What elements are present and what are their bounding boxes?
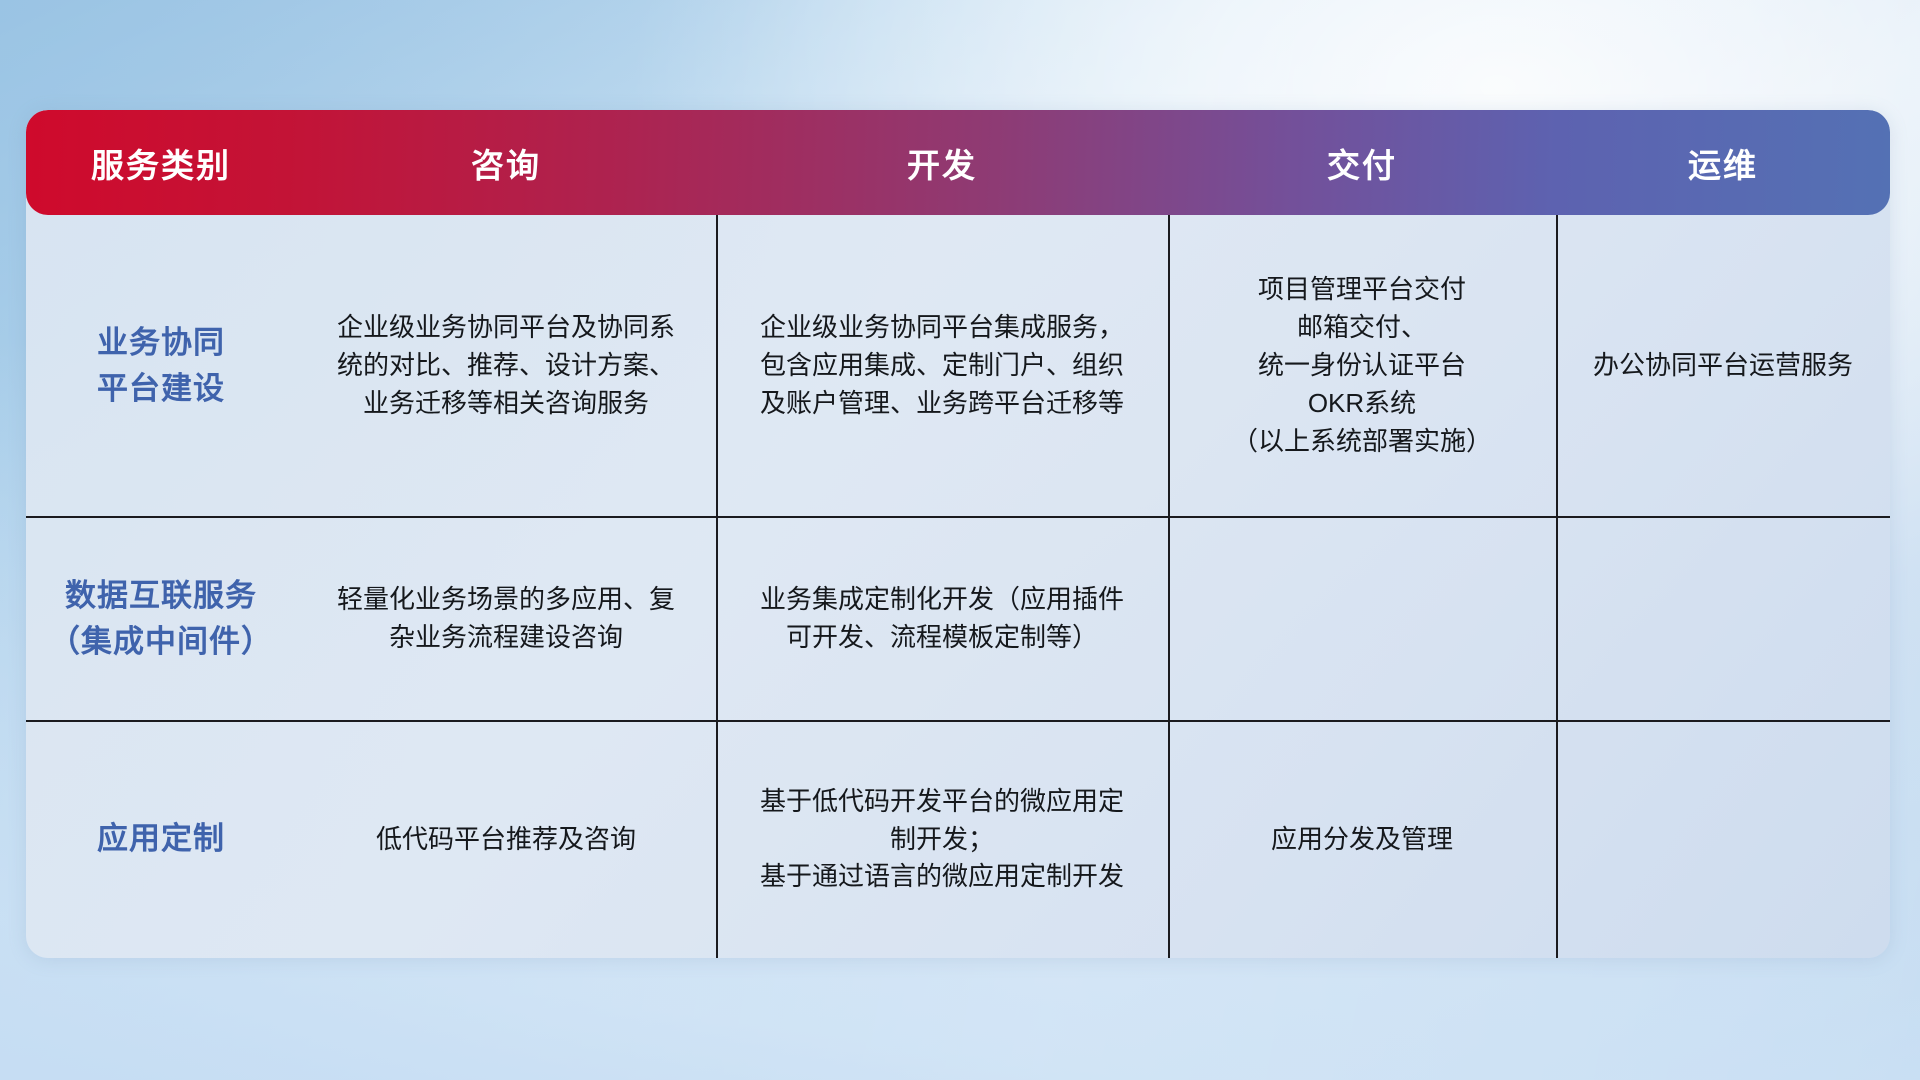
cell-r2-develop: 业务集成定制化开发（应用插件 可开发、流程模板定制等） (716, 517, 1168, 721)
table-header-row: 服务类别 咨询 开发 交付 运维 (26, 110, 1890, 215)
column-header-develop: 开发 (716, 139, 1168, 187)
cell-r2-deliver (1168, 517, 1556, 721)
table-row: 业务协同 平台建设 企业级业务协同平台及协同系 统的对比、推荐、设计方案、 业务… (26, 215, 1890, 517)
row-label-business-collaboration: 业务协同 平台建设 (26, 215, 296, 517)
column-divider-deliver-operate (1556, 215, 1558, 958)
table-row: 数据互联服务 （集成中间件） 轻量化业务场景的多应用、复 杂业务流程建设咨询 业… (26, 517, 1890, 721)
row-label-data-interconnect: 数据互联服务 （集成中间件） (26, 517, 296, 721)
column-header-deliver: 交付 (1168, 139, 1556, 187)
table-row: 应用定制 低代码平台推荐及咨询 基于低代码开发平台的微应用定 制开发； 基于通过… (26, 721, 1890, 958)
cell-r1-operate: 办公协同平台运营服务 (1556, 215, 1890, 517)
table-body: 业务协同 平台建设 企业级业务协同平台及协同系 统的对比、推荐、设计方案、 业务… (26, 215, 1890, 958)
row-divider-2 (26, 720, 1890, 722)
service-matrix-table: 服务类别 咨询 开发 交付 运维 业务协同 平台建设 企业级业务协同平台及协同系… (26, 110, 1890, 958)
cell-r3-deliver: 应用分发及管理 (1168, 721, 1556, 958)
column-divider-develop-deliver (1168, 215, 1170, 958)
cell-r1-develop: 企业级业务协同平台集成服务， 包含应用集成、定制门户、组织 及账户管理、业务跨平… (716, 215, 1168, 517)
cell-r2-consult: 轻量化业务场景的多应用、复 杂业务流程建设咨询 (296, 517, 716, 721)
column-header-consult: 咨询 (296, 139, 716, 187)
column-header-operate: 运维 (1556, 139, 1890, 187)
column-header-category: 服务类别 (26, 139, 296, 187)
cell-r3-consult: 低代码平台推荐及咨询 (296, 721, 716, 958)
cell-r1-consult: 企业级业务协同平台及协同系 统的对比、推荐、设计方案、 业务迁移等相关咨询服务 (296, 215, 716, 517)
cell-r3-develop: 基于低代码开发平台的微应用定 制开发； 基于通过语言的微应用定制开发 (716, 721, 1168, 958)
row-label-app-customization: 应用定制 (26, 721, 296, 958)
cell-r3-operate (1556, 721, 1890, 958)
cell-r1-deliver: 项目管理平台交付 邮箱交付、 统一身份认证平台 OKR系统 （以上系统部署实施） (1168, 215, 1556, 517)
column-divider-consult-develop (716, 215, 718, 958)
cell-r2-operate (1556, 517, 1890, 721)
row-divider-1 (26, 516, 1890, 518)
